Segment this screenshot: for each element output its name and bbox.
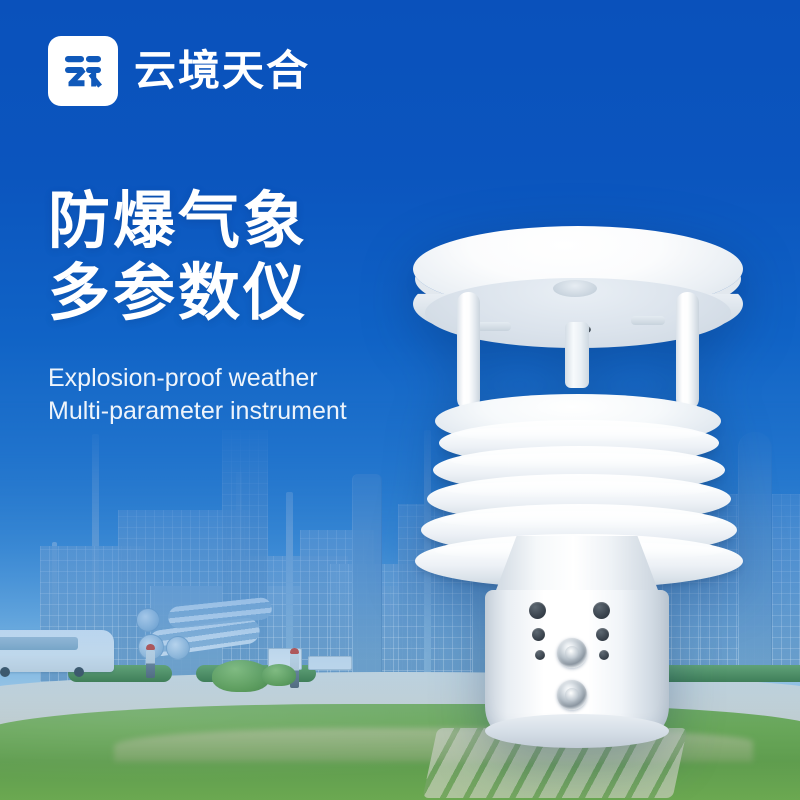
product-image bbox=[405, 218, 765, 778]
product-poster: 云境天合 防爆气象 多参数仪 Explosion-proof weather M… bbox=[0, 0, 800, 800]
brand-logo: 云境天合 bbox=[48, 36, 310, 106]
sensor-vent-hole bbox=[596, 628, 609, 641]
zr-monogram-logo-icon bbox=[48, 36, 118, 106]
sensor-vent-hole bbox=[593, 602, 610, 619]
center-stem bbox=[565, 322, 589, 388]
sensor-vent-hole bbox=[599, 650, 609, 660]
transducer-tab bbox=[477, 322, 511, 331]
cable-connector-port bbox=[557, 680, 587, 710]
brand-name: 云境天合 bbox=[134, 50, 310, 92]
sensor-vent-hole bbox=[529, 602, 546, 619]
subhead-line-2: Multi-parameter instrument bbox=[48, 395, 347, 428]
instrument-body-bottom bbox=[485, 714, 669, 748]
headline-line-1: 防爆气象 bbox=[48, 186, 308, 258]
sensor-vent-hole bbox=[532, 628, 545, 641]
sensor-vent-hole bbox=[535, 650, 545, 660]
disc-vent bbox=[553, 280, 597, 297]
transducer-tab bbox=[631, 316, 665, 325]
support-post bbox=[676, 292, 699, 410]
support-post bbox=[457, 292, 480, 410]
subhead-line-1: Explosion-proof weather bbox=[48, 362, 347, 395]
instrument-body-cone bbox=[493, 536, 661, 598]
cable-connector-port bbox=[557, 638, 587, 668]
headline-line-2: 多参数仪 bbox=[48, 258, 308, 330]
subhead-block: Explosion-proof weather Multi-parameter … bbox=[48, 362, 347, 428]
headline-block: 防爆气象 多参数仪 bbox=[48, 186, 308, 330]
